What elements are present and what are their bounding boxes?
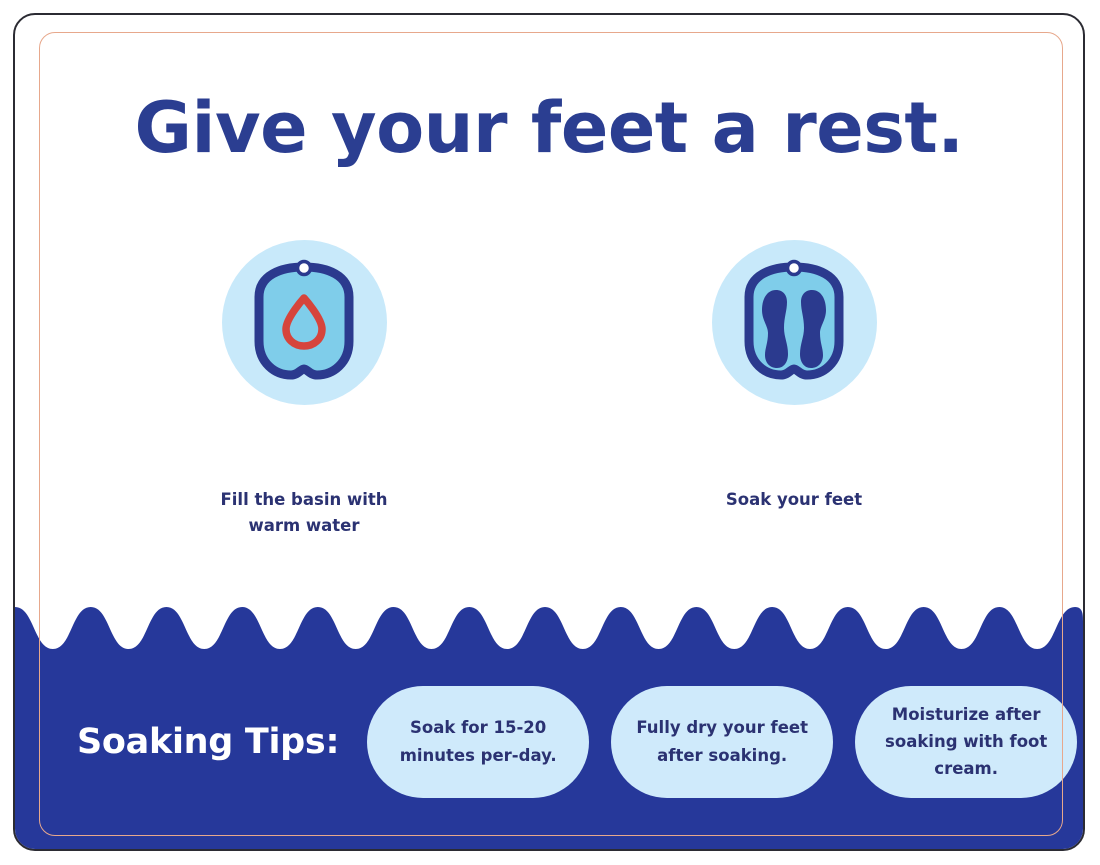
tip-line-2: soaking with foot bbox=[885, 728, 1047, 755]
tip-pill-moisturize: Moisturize after soaking with foot cream… bbox=[855, 686, 1077, 798]
step-soak-feet: Soak your feet bbox=[669, 240, 919, 540]
step-caption-line-1: Fill the basin with bbox=[221, 487, 388, 513]
step-icon-disc bbox=[712, 240, 877, 405]
soaking-tips-row: Soaking Tips: Soak for 15-20 minutes per… bbox=[15, 634, 1083, 849]
step-caption: Soak your feet bbox=[726, 487, 862, 513]
step-fill-basin: Fill the basin with warm water bbox=[179, 240, 429, 540]
tip-line-2: after soaking. bbox=[636, 742, 808, 769]
step-caption-line-1: Soak your feet bbox=[726, 487, 862, 513]
steps-row: Fill the basin with warm water bbox=[15, 240, 1083, 540]
infographic-poster: Give your feet a rest. Fill the basin wi… bbox=[0, 0, 1100, 865]
step-caption-line-2: warm water bbox=[221, 513, 388, 539]
tip-line-2: minutes per-day. bbox=[400, 742, 557, 769]
tip-line-1: Soak for 15-20 bbox=[400, 714, 557, 741]
basin-with-water-droplet-icon bbox=[229, 245, 379, 400]
poster-outer-frame: Give your feet a rest. Fill the basin wi… bbox=[13, 13, 1085, 851]
tip-line-1: Moisturize after bbox=[885, 701, 1047, 728]
page-title: Give your feet a rest. bbox=[15, 93, 1083, 163]
tip-line-1: Fully dry your feet bbox=[636, 714, 808, 741]
soaking-tips-label: Soaking Tips: bbox=[77, 722, 339, 762]
step-caption: Fill the basin with warm water bbox=[221, 487, 388, 540]
step-icon-disc bbox=[222, 240, 387, 405]
tip-pill-soak-duration: Soak for 15-20 minutes per-day. bbox=[367, 686, 589, 798]
tip-pill-dry-feet: Fully dry your feet after soaking. bbox=[611, 686, 833, 798]
tip-line-3: cream. bbox=[885, 755, 1047, 782]
basin-with-footprints-icon bbox=[719, 245, 869, 400]
